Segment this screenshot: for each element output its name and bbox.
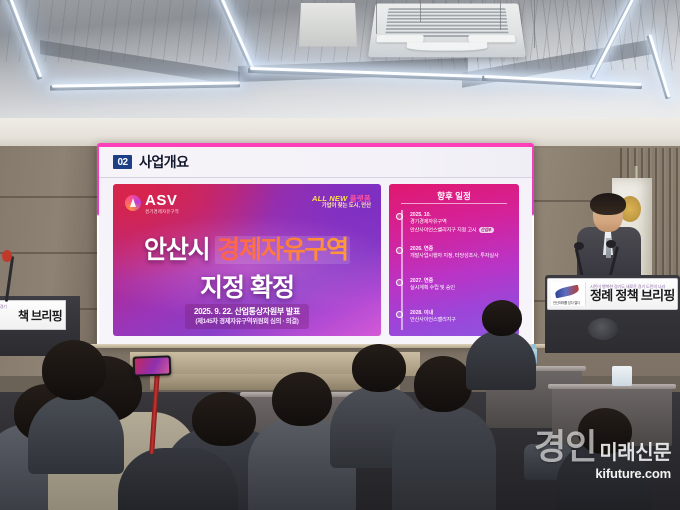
ac-hanger-1 xyxy=(376,0,377,34)
podium-logo-caption: 안산미래를 담다 열다 xyxy=(553,300,580,305)
presentation-screen[interactable]: 02 사업개요 ASV 경기경제자유구역 ALL NEW xyxy=(97,143,534,346)
podium-banner-right: 안산미래를 담다 열다 시민이 행복한 경기도 새로운 경기 도민의 나라 정례… xyxy=(547,278,678,310)
timeline-item: 2027. 연중 실시계획 수립 및 승인 xyxy=(396,278,516,293)
asv-mark-icon xyxy=(125,195,141,211)
podium-logo-right: 안산미래를 담다 열다 xyxy=(551,282,586,306)
hero-note-line1: 2025. 9. 22. 산업통상자원부 발표 xyxy=(194,307,300,318)
slide-hero-card: ASV 경기경제자유구역 ALL NEW 플랫폼 기업이 찾는 도시, 안산 안… xyxy=(113,184,381,336)
hero-title-zone: 경제자유구역 xyxy=(217,236,348,264)
briefing-room-photo: 02 사업개요 ASV 경기경제자유구역 ALL NEW xyxy=(0,0,680,510)
timeline-item: 2026. 연중 개발사업시행자 지정, 타당성조사, 투자실사 xyxy=(396,246,516,261)
hero-tagline: ALL NEW 플랫폼 기업이 찾는 도시, 안산 xyxy=(312,194,371,210)
slide-header: 02 사업개요 xyxy=(99,147,532,177)
hero-tagline-allnew: ALL NEW xyxy=(312,194,350,203)
timeline-tag: 산업부 xyxy=(479,227,494,234)
schedule-title: 향후 일정 xyxy=(389,190,519,202)
timeline-text-1: 경기경제자유구역 xyxy=(410,219,516,226)
timeline-body: 2026. 연중 개발사업시행자 지정, 타당성조사, 투자실사 xyxy=(410,246,516,261)
hero-tagline-bottom: 기업이 찾는 도시, 안산 xyxy=(312,203,371,210)
audience-person-head xyxy=(42,340,106,400)
asv-logo-text: ASV 경기경제자유구역 xyxy=(145,193,179,214)
timeline-dot-icon xyxy=(396,213,403,220)
audience-person-head xyxy=(192,392,256,446)
podium-seal-icon xyxy=(588,318,618,340)
tissue-box xyxy=(612,366,632,386)
air-conditioner-unit xyxy=(368,3,526,57)
timeline-dot-icon xyxy=(396,311,403,318)
hero-title-city: 안산시 xyxy=(144,236,215,264)
asv-logo-subtext: 경기경제자유구역 xyxy=(145,210,179,214)
asv-logo-name: ASV xyxy=(145,193,179,208)
hero-title-line2: 지정 확정 xyxy=(113,268,381,304)
speaker-hair xyxy=(590,193,626,215)
hero-title-line1: 안산시 경제자유구역 xyxy=(113,230,381,266)
audience-person-head xyxy=(272,372,332,426)
audience-person-shoulders xyxy=(28,394,124,474)
podium-slogan-left: 시민이 행복한 경기 xyxy=(0,304,7,310)
asv-logo: ASV 경기경제자유구역 xyxy=(125,193,179,214)
hero-note: 2025. 9. 22. 산업통상자원부 발표 (제145차 경제자유구역위원회… xyxy=(185,304,309,329)
timeline-text-1: 실시계획 수립 및 승인 xyxy=(410,285,516,292)
gyeonggi-swoosh-icon xyxy=(554,285,579,299)
slide-section-number: 02 xyxy=(113,155,132,169)
timeline-text-2-label: 안산사이언스밸리지구 지정 고시 xyxy=(410,227,477,233)
timeline-body: 2025. 10. 경기경제자유구역 안산사이언스밸리지구 지정 고시산업부 xyxy=(410,212,516,235)
audience-person-head xyxy=(578,408,632,454)
timeline-item: 2025. 10. 경기경제자유구역 안산사이언스밸리지구 지정 고시산업부 xyxy=(396,212,516,235)
podium-text-right: 시민이 행복한 경기도 새로운 경기 도민의 나라 정례 정책 브리핑 xyxy=(590,285,675,304)
podium-banner-left: 시민이 행복한 경기 책 브리핑 xyxy=(0,300,66,330)
schedule-title-divider xyxy=(401,203,507,204)
ceiling xyxy=(0,0,680,132)
timeline-dot-icon xyxy=(396,247,403,254)
wall-seam-1 xyxy=(0,196,97,198)
microphone-head-right xyxy=(606,240,616,248)
screen-bezel: 02 사업개요 ASV 경기경제자유구역 ALL NEW xyxy=(97,143,534,346)
timeline-text-1: 개발사업시행자 지정, 타당성조사, 투자실사 xyxy=(410,253,516,260)
ac-vane-bottom xyxy=(406,42,487,50)
microphone-head-left xyxy=(574,242,584,250)
timeline-body: 2027. 연중 실시계획 수립 및 승인 xyxy=(410,278,516,293)
microphone-head-left-podium xyxy=(2,250,12,262)
audience-person-head xyxy=(482,300,522,336)
smartphone-recording[interactable] xyxy=(133,355,172,376)
timeline-text-2: 안산사이언스밸리지구 지정 고시산업부 xyxy=(410,227,516,235)
audience-person-head xyxy=(352,344,406,392)
ac-hanger-3 xyxy=(500,0,501,30)
slide-canvas: 02 사업개요 ASV 경기경제자유구역 ALL NEW xyxy=(99,147,532,344)
phone-screen xyxy=(135,357,170,374)
ceiling-duct-box xyxy=(299,3,357,47)
wall-seam-2 xyxy=(0,252,97,254)
ac-grill xyxy=(385,8,509,37)
slide-header-divider xyxy=(99,177,532,178)
ac-hanger-4 xyxy=(534,0,535,48)
ac-vane-right xyxy=(468,35,515,42)
audience-person-shoulders xyxy=(392,406,496,510)
hero-tagline-platform: 플랫폼 xyxy=(350,194,371,203)
hero-note-line2: (제145차 경제자유구역위원회 심의 · 의결) xyxy=(194,318,300,327)
timeline-dot-icon xyxy=(396,279,403,286)
podium-title-right: 정례 정책 브리핑 xyxy=(590,289,675,303)
podium-title-left: 책 브리핑 xyxy=(18,307,62,324)
audience-person-head xyxy=(414,356,472,412)
audience-person-shoulders xyxy=(118,448,238,510)
ac-vane-left xyxy=(376,35,423,42)
slide-section-title: 사업개요 xyxy=(139,152,189,172)
ac-hanger-2 xyxy=(420,0,421,22)
hero-tagline-top: ALL NEW 플랫폼 xyxy=(312,194,371,203)
